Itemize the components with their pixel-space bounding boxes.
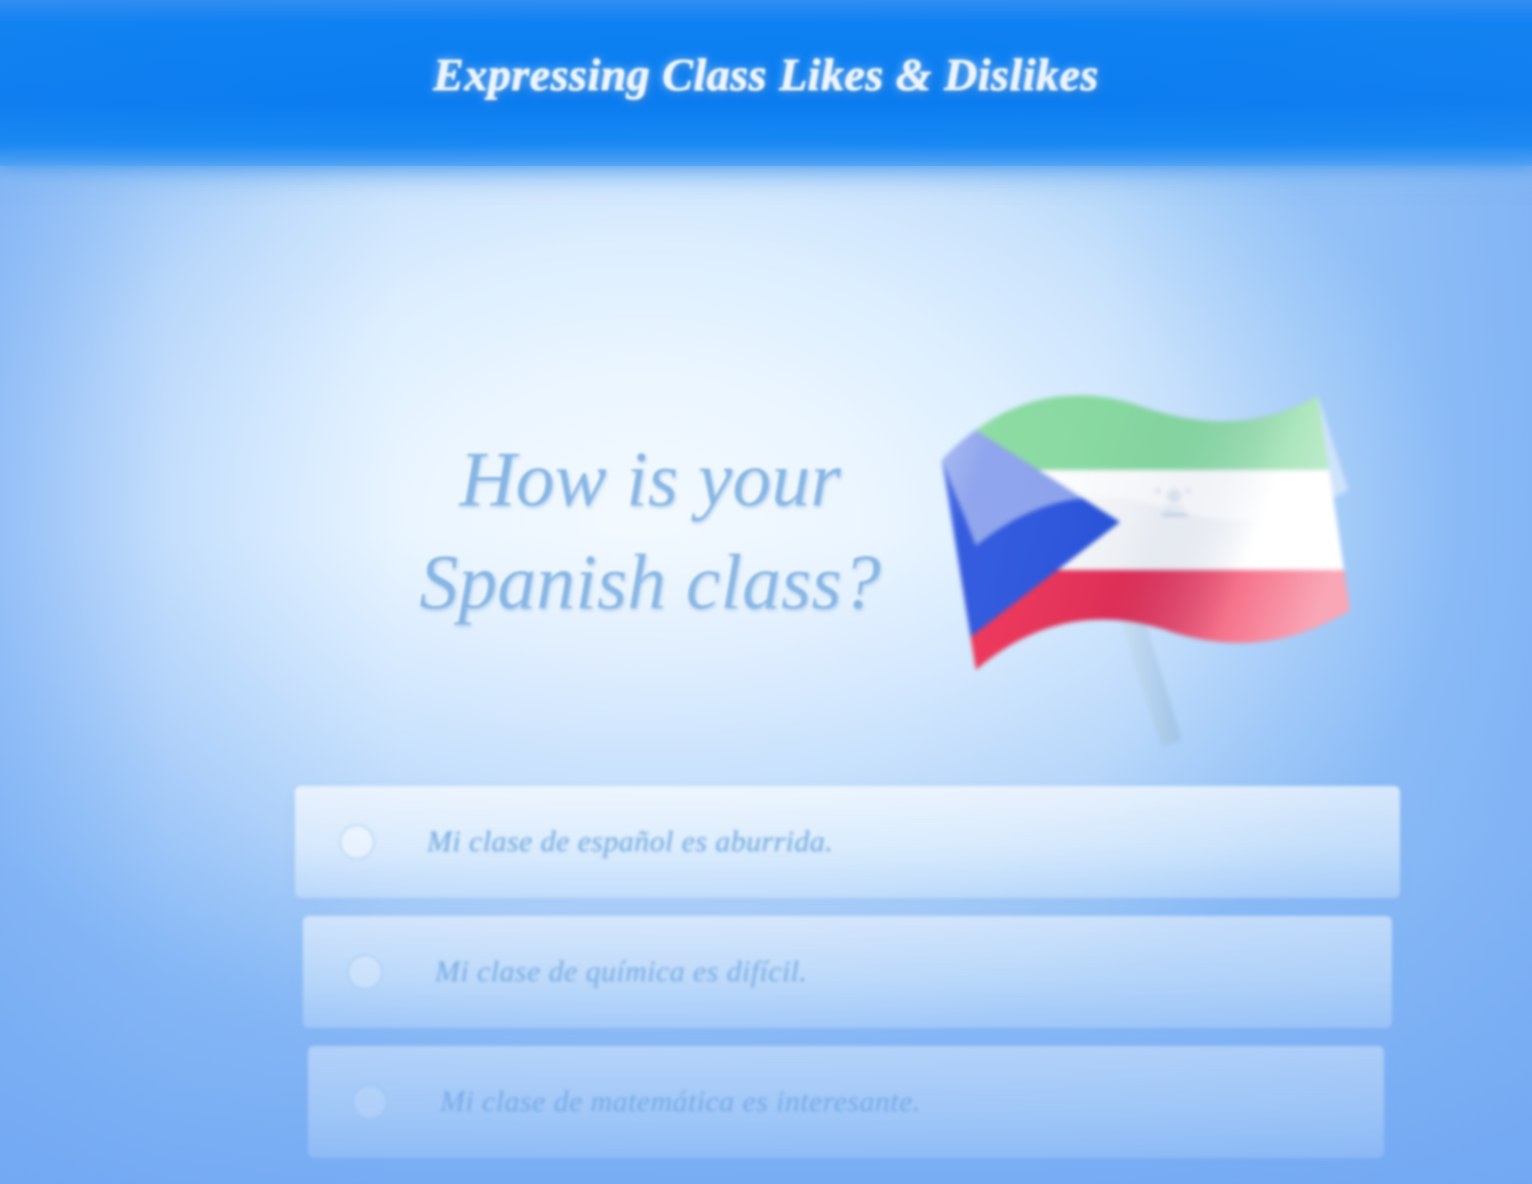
answer-option-2[interactable]: Mi clase de química es difícil. (303, 916, 1392, 1028)
question-line-2: Spanish class? (360, 531, 940, 634)
question-line-1: How is your (360, 428, 940, 531)
answer-option-1[interactable]: Mi clase de español es aburrida. (295, 786, 1400, 898)
answer-option-2-label: Mi clase de química es difícil. (435, 955, 807, 989)
equatorial-guinea-flag-icon (930, 310, 1360, 780)
quiz-slide: Expressing Class Likes & Dislikes How is… (0, 0, 1532, 1184)
question-text: How is your Spanish class? (360, 428, 940, 634)
radio-icon-3[interactable] (352, 1084, 388, 1120)
header-bar: Expressing Class Likes & Dislikes (0, 0, 1532, 166)
answer-option-1-label: Mi clase de español es aburrida. (427, 825, 833, 859)
page-title: Expressing Class Likes & Dislikes (0, 48, 1532, 101)
radio-icon-2[interactable] (347, 954, 383, 990)
flag-bands (930, 310, 1360, 780)
radio-icon-1[interactable] (339, 824, 375, 860)
answer-option-3-label: Mi clase de matemática es interesante. (440, 1085, 921, 1119)
header-glow (0, 150, 1532, 196)
answer-options-list: Mi clase de español es aburrida. Mi clas… (0, 786, 1532, 1176)
answer-option-3[interactable]: Mi clase de matemática es interesante. (308, 1046, 1384, 1158)
